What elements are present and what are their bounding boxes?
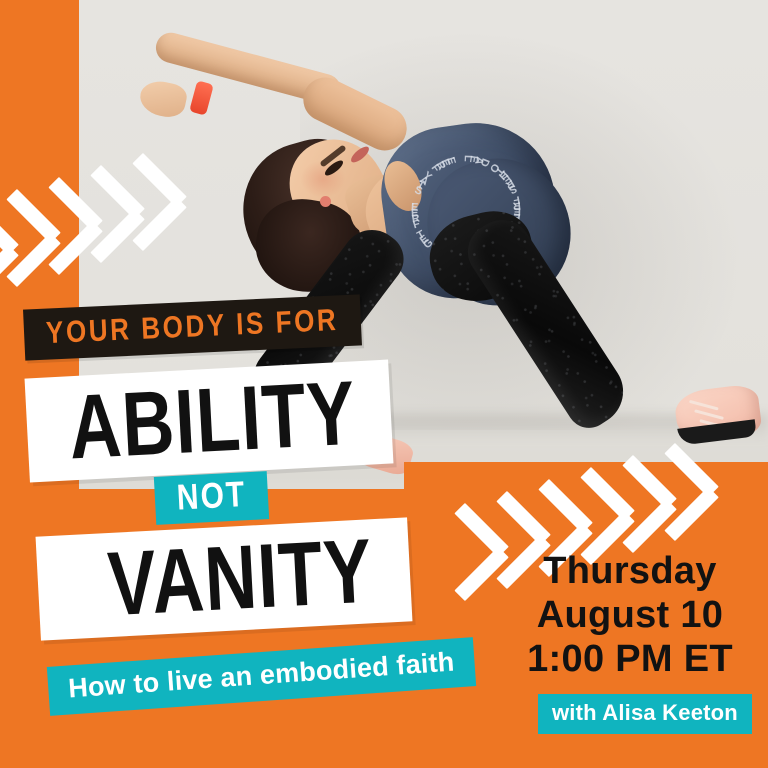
host-badge: with Alisa Keeton — [538, 694, 752, 734]
chevron-right-icon — [706, 430, 718, 518]
headline-vanity: VANITY — [35, 504, 413, 654]
earring — [320, 196, 331, 207]
eyebrow-text: YOUR BODY IS FOR — [45, 302, 339, 352]
event-details: Thursday August 10 1:00 PM ET — [512, 549, 748, 681]
chevron-group-top-left — [6, 140, 226, 270]
event-time: 1:00 PM ET — [512, 637, 748, 681]
promo-poster: GET FREE. STAY FREE. LEAD OTHERS FREE. Y… — [0, 0, 768, 768]
headline-band-ability: ABILITY — [25, 360, 394, 483]
chevron-right-icon — [174, 140, 186, 228]
host-name: with Alisa Keeton — [552, 700, 738, 726]
event-date: August 10 — [512, 593, 748, 637]
event-day: Thursday — [512, 549, 748, 593]
headline-band-vanity: VANITY — [36, 517, 413, 640]
